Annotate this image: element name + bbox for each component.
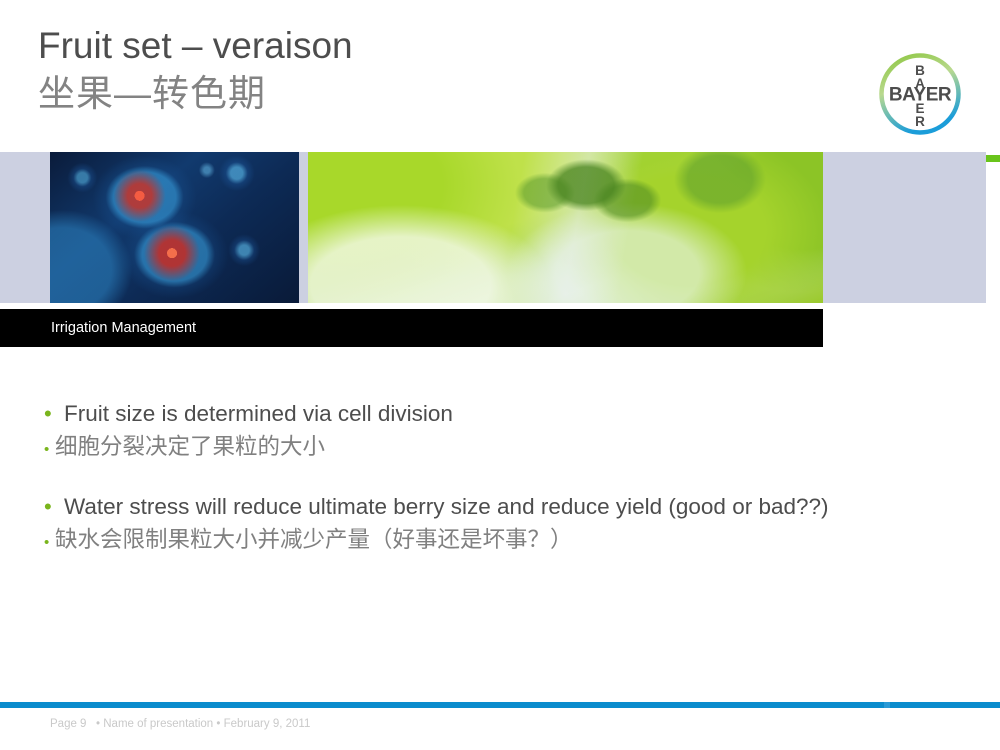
title-chinese: 坐果—转色期 — [38, 69, 838, 118]
bullet-marker-icon: • — [44, 398, 64, 430]
bullet-item-english: • Fruit size is determined via cell divi… — [44, 398, 964, 430]
bullet-item-chinese: • 缺水会限制果粒大小并减少产量（好事还是坏事？） — [44, 523, 964, 560]
grape-vine-photo — [308, 152, 823, 303]
bullet-item-english: • Water stress will reduce ultimate berr… — [44, 491, 964, 523]
footer-divider — [0, 702, 1000, 708]
title-english: Fruit set – veraison — [38, 22, 838, 69]
bayer-logo-icon: BAYER B A E R — [878, 52, 962, 136]
bullet-text-english: Fruit size is determined via cell divisi… — [64, 398, 453, 430]
bullet-marker-icon: • — [44, 526, 55, 560]
bullet-text-chinese: 细胞分裂决定了果粒的大小 — [55, 430, 325, 464]
footer-divider-notch — [884, 702, 890, 708]
green-accent-bar — [986, 155, 1000, 162]
bullet-item-chinese: • 细胞分裂决定了果粒的大小 — [44, 430, 964, 467]
bullet-marker-icon: • — [44, 433, 55, 467]
bullet-marker-icon: • — [44, 491, 64, 523]
cell-division-photo — [50, 152, 299, 303]
bullet-group: • Water stress will reduce ultimate berr… — [44, 491, 964, 560]
bullet-text-english: Water stress will reduce ultimate berry … — [64, 491, 829, 523]
section-banner: Irrigation Management — [0, 309, 823, 347]
slide: Fruit set – veraison 坐果—转色期 BAYER B A E … — [0, 0, 1000, 750]
footer-text: Page 9 • Name of presentation • February… — [50, 718, 310, 730]
bullet-text-chinese: 缺水会限制果粒大小并减少产量（好事还是坏事？） — [55, 523, 573, 557]
bullet-list: • Fruit size is determined via cell divi… — [44, 398, 964, 584]
svg-text:A: A — [915, 76, 925, 91]
bullet-group: • Fruit size is determined via cell divi… — [44, 398, 964, 467]
svg-text:R: R — [915, 114, 925, 129]
section-banner-label: Irrigation Management — [51, 320, 196, 336]
image-band — [0, 152, 986, 303]
page-title: Fruit set – veraison 坐果—转色期 — [38, 22, 838, 118]
